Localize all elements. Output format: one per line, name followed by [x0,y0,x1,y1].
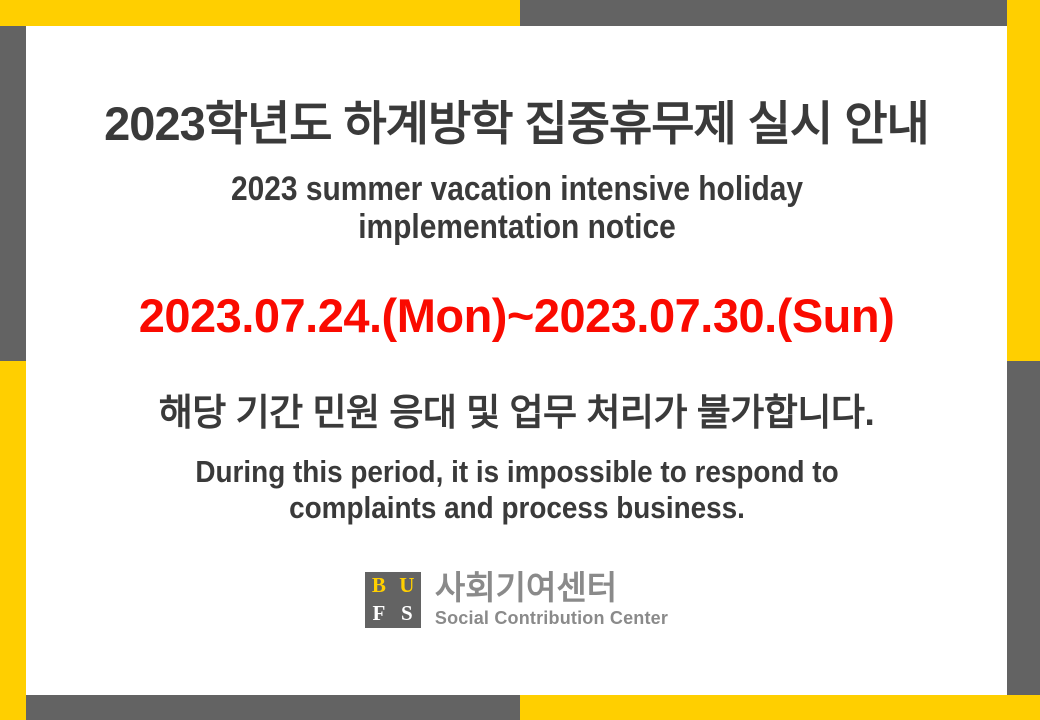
logo-letter-f: F [372,603,385,624]
frame-band-bottom-gray [26,695,520,720]
frame-band-top-yellow [0,0,520,26]
organization-logo: B U F S 사회기여센터 Social Contribution Cente… [365,571,668,628]
logo-name-korean: 사회기여센터 [435,571,668,606]
notice-poster: 2023학년도 하계방학 집중휴무제 실시 안내 2023 summer vac… [0,0,1040,720]
logo-letter-s: S [401,603,413,624]
date-range-text: 2023.07.24.(Mon)~2023.07.30.(Sun) [139,290,894,342]
page-title-korean: 2023학년도 하계방학 집중휴무제 실시 안내 [104,98,929,150]
frame-band-right-yellow [1007,0,1040,361]
logo-wordmark: 사회기여센터 Social Contribution Center [435,571,668,628]
logo-letter-b: B [372,575,386,596]
frame-band-right-gray [1007,361,1040,695]
logo-name-english: Social Contribution Center [435,609,668,628]
frame-band-top-gray [520,0,1007,26]
content-card: 2023학년도 하계방학 집중휴무제 실시 안내 2023 summer vac… [26,26,1007,695]
page-subtitle-english: 2023 summer vacation intensive holiday i… [169,170,864,246]
bufs-logo-mark-icon: B U F S [365,572,421,628]
frame-band-left-yellow [0,361,26,720]
frame-band-left-gray [0,26,26,361]
logo-letter-u: U [399,575,414,596]
notice-body-english: During this period, it is impossible to … [175,454,859,525]
frame-band-bottom-yellow [520,695,1040,720]
notice-body-korean: 해당 기간 민원 응대 및 업무 처리가 불가합니다. [159,392,875,435]
